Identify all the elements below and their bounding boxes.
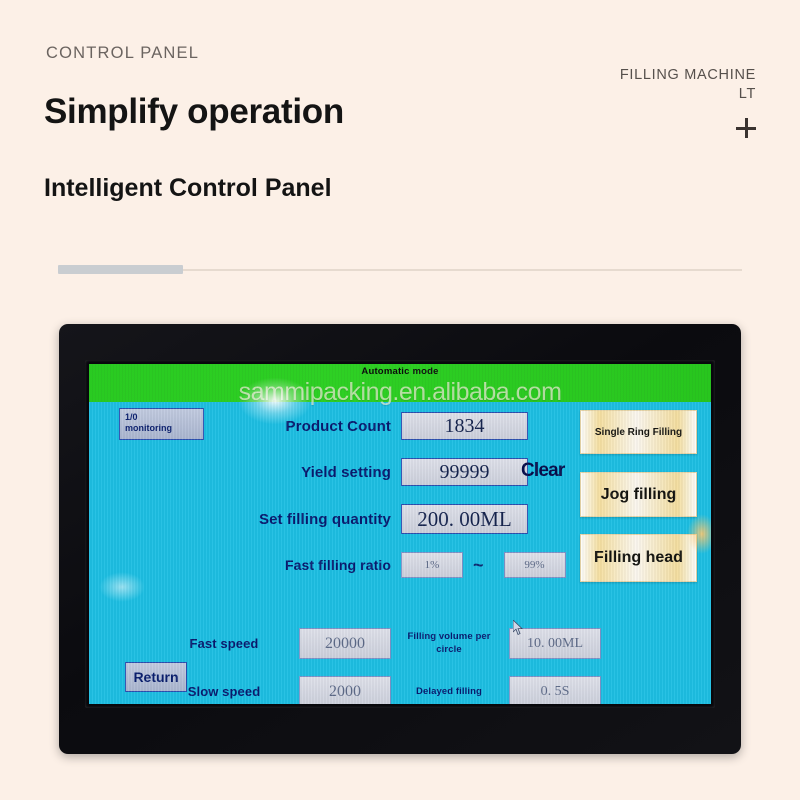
delayed-filling-row: Delayed filling 0. 5S: [401, 676, 601, 704]
hmi-screen: Automatic mode sammipacking.en.alibaba.c…: [89, 364, 711, 704]
divider: [58, 265, 742, 275]
fast-filling-ratio-min-field[interactable]: 1%: [401, 552, 463, 578]
brand-label: FILLING MACHINE LT: [620, 66, 756, 104]
single-ring-filling-label: Single Ring Filling: [595, 427, 682, 438]
mouse-cursor-icon: [513, 620, 525, 636]
fast-speed-label: Fast speed: [159, 636, 289, 651]
fast-filling-ratio-row: Fast filling ratio 1% ~ 99%: [215, 552, 566, 578]
io-monitoring-button[interactable]: 1/0 monitoring: [119, 408, 204, 440]
filling-volume-label: Filling volume per circle: [401, 631, 497, 656]
page-eyebrow: CONTROL PANEL: [46, 44, 199, 63]
clear-button[interactable]: Clear: [521, 460, 565, 482]
fast-filling-ratio-label: Fast filling ratio: [215, 557, 391, 573]
mode-label: Automatic mode: [361, 366, 438, 377]
filling-volume-row: Filling volume per circle 10. 00ML: [401, 628, 601, 659]
brand-line-1: FILLING MACHINE: [620, 66, 756, 85]
range-separator: ~: [473, 555, 484, 576]
slow-speed-field[interactable]: 2000: [299, 676, 391, 704]
page-title: Simplify operation: [44, 92, 344, 132]
brand-line-2: LT: [620, 85, 756, 104]
slow-speed-row: Slow speed 2000: [159, 676, 391, 704]
filling-head-button[interactable]: Filling head: [580, 534, 697, 582]
yield-setting-row: Yield setting 99999: [239, 458, 528, 486]
plus-icon[interactable]: [736, 118, 756, 138]
divider-accent: [58, 265, 183, 274]
yield-setting-field[interactable]: 99999: [401, 458, 528, 486]
set-filling-quantity-label: Set filling quantity: [215, 511, 391, 528]
jog-filling-button[interactable]: Jog filling: [580, 472, 697, 517]
filling-head-label: Filling head: [594, 549, 683, 567]
monitor-bezel: Automatic mode sammipacking.en.alibaba.c…: [85, 360, 715, 708]
page-root: CONTROL PANEL Simplify operation Intelli…: [0, 0, 800, 800]
product-count-field[interactable]: 1834: [401, 412, 528, 440]
hmi-monitor: Automatic mode sammipacking.en.alibaba.c…: [59, 324, 741, 754]
io-monitoring-label-1: 1/0: [125, 412, 138, 423]
yield-setting-label: Yield setting: [239, 464, 391, 481]
fast-speed-row: Fast speed 20000: [159, 628, 391, 659]
watermark: sammipacking.en.alibaba.com: [89, 378, 711, 407]
product-count-label: Product Count: [239, 418, 391, 435]
delayed-filling-label: Delayed filling: [401, 686, 497, 697]
set-filling-quantity-row: Set filling quantity 200. 00ML: [215, 504, 528, 534]
single-ring-filling-button[interactable]: Single Ring Filling: [580, 410, 697, 454]
fast-filling-ratio-max-field[interactable]: 99%: [504, 552, 566, 578]
return-button[interactable]: Return: [125, 662, 187, 692]
set-filling-quantity-field[interactable]: 200. 00ML: [401, 504, 528, 534]
io-monitoring-label-2: monitoring: [125, 423, 172, 434]
fast-speed-field[interactable]: 20000: [299, 628, 391, 659]
screen-glare-left: [99, 572, 145, 602]
jog-filling-label: Jog filling: [601, 486, 677, 504]
product-count-row: Product Count 1834: [239, 412, 528, 440]
page-subtitle: Intelligent Control Panel: [44, 174, 332, 203]
delayed-filling-field[interactable]: 0. 5S: [509, 676, 601, 704]
